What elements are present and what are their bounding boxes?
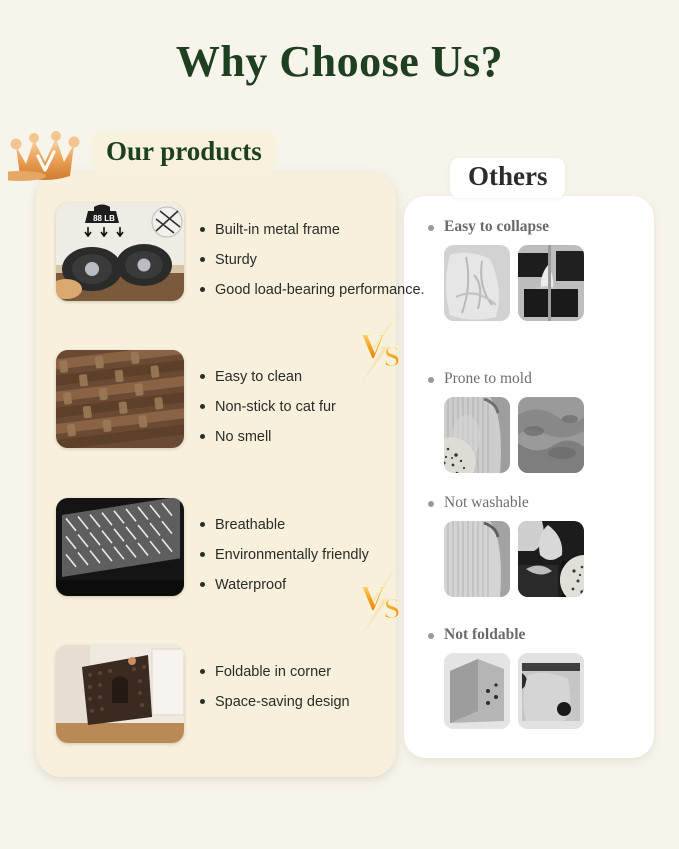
- dumbbells-on-rattan-box-photo: 88 LB: [56, 203, 184, 301]
- others-label-1: Easy to collapse: [424, 218, 584, 236]
- vs-badge-bottom: V S: [349, 566, 411, 636]
- infographic-page: Why Choose Us? Our products Others: [0, 0, 679, 849]
- dirty-striped-fabric-photo: [444, 521, 510, 597]
- folded-rattan-litter-box-photo: [56, 645, 184, 743]
- bullet-item: Easy to clean: [200, 367, 336, 388]
- bullet-item: Foldable in corner: [200, 662, 350, 683]
- others-images-2: [424, 397, 584, 473]
- moldy-striped-fabric-photo: [444, 397, 510, 473]
- others-row-2: Prone to mold: [424, 370, 584, 473]
- bullet-item: Breathable: [200, 515, 369, 536]
- rigid-gray-box-photo: [444, 653, 510, 729]
- product-bullets-2: Easy to clean Non-stick to cat fur No sm…: [200, 365, 336, 448]
- others-row-1: Easy to collapse: [424, 218, 584, 321]
- crown-icon: [8, 124, 82, 186]
- rigid-metal-box-photo: [518, 653, 584, 729]
- svg-text:88 LB: 88 LB: [93, 214, 115, 223]
- others-row-3: Not washable: [424, 494, 584, 597]
- others-images-3: [424, 521, 584, 597]
- collapsed-dark-box-photo: [518, 245, 584, 321]
- others-images-1: [424, 245, 584, 321]
- others-images-4: [424, 653, 584, 729]
- bullet-item: No smell: [200, 427, 336, 448]
- stained-dark-box-photo: [518, 521, 584, 597]
- mold-closeup-circle: [444, 437, 476, 473]
- product-bullets-4: Foldable in corner Space-saving design: [200, 660, 350, 713]
- product-bullets-1: Built-in metal frame Sturdy Good load-be…: [200, 218, 425, 301]
- others-header: Others: [450, 158, 565, 198]
- our-products-header: Our products: [92, 132, 276, 173]
- mold-closeup-circle: [560, 555, 584, 597]
- others-label-3: Not washable: [424, 494, 584, 512]
- woven-rattan-texture-photo: [56, 350, 184, 448]
- product-row-4: Foldable in corner Space-saving design: [56, 645, 350, 743]
- bullet-item: Space-saving design: [200, 692, 350, 713]
- product-row-3: Breathable Environmentally friendly Wate…: [56, 498, 369, 610]
- product-row-1: 88 LB Built-in metal frame Sturdy Good l…: [56, 203, 425, 315]
- product-bullets-3: Breathable Environmentally friendly Wate…: [200, 513, 369, 596]
- product-row-2: Easy to clean Non-stick to cat fur No sm…: [56, 350, 336, 462]
- svg-text:S: S: [384, 592, 401, 625]
- svg-text:V: V: [360, 578, 386, 618]
- collapsed-fabric-photo: [444, 245, 510, 321]
- bullet-item: Built-in metal frame: [200, 220, 425, 241]
- bullet-item: Non-stick to cat fur: [200, 397, 336, 418]
- svg-text:S: S: [384, 340, 401, 373]
- page-title: Why Choose Us?: [0, 36, 679, 87]
- others-label-4: Not foldable: [424, 626, 584, 644]
- bullet-item: Good load-bearing performance.: [200, 280, 425, 301]
- svg-text:V: V: [360, 326, 386, 366]
- others-row-4: Not foldable: [424, 626, 584, 729]
- others-label-2: Prone to mold: [424, 370, 584, 388]
- moldy-gray-surface-photo: [518, 397, 584, 473]
- bullet-item: Environmentally friendly: [200, 545, 369, 566]
- bullet-item: Waterproof: [200, 575, 369, 596]
- breathable-mesh-panel-photo: [56, 498, 184, 596]
- bullet-item: Sturdy: [200, 250, 425, 271]
- vs-badge-top: V S: [349, 314, 411, 384]
